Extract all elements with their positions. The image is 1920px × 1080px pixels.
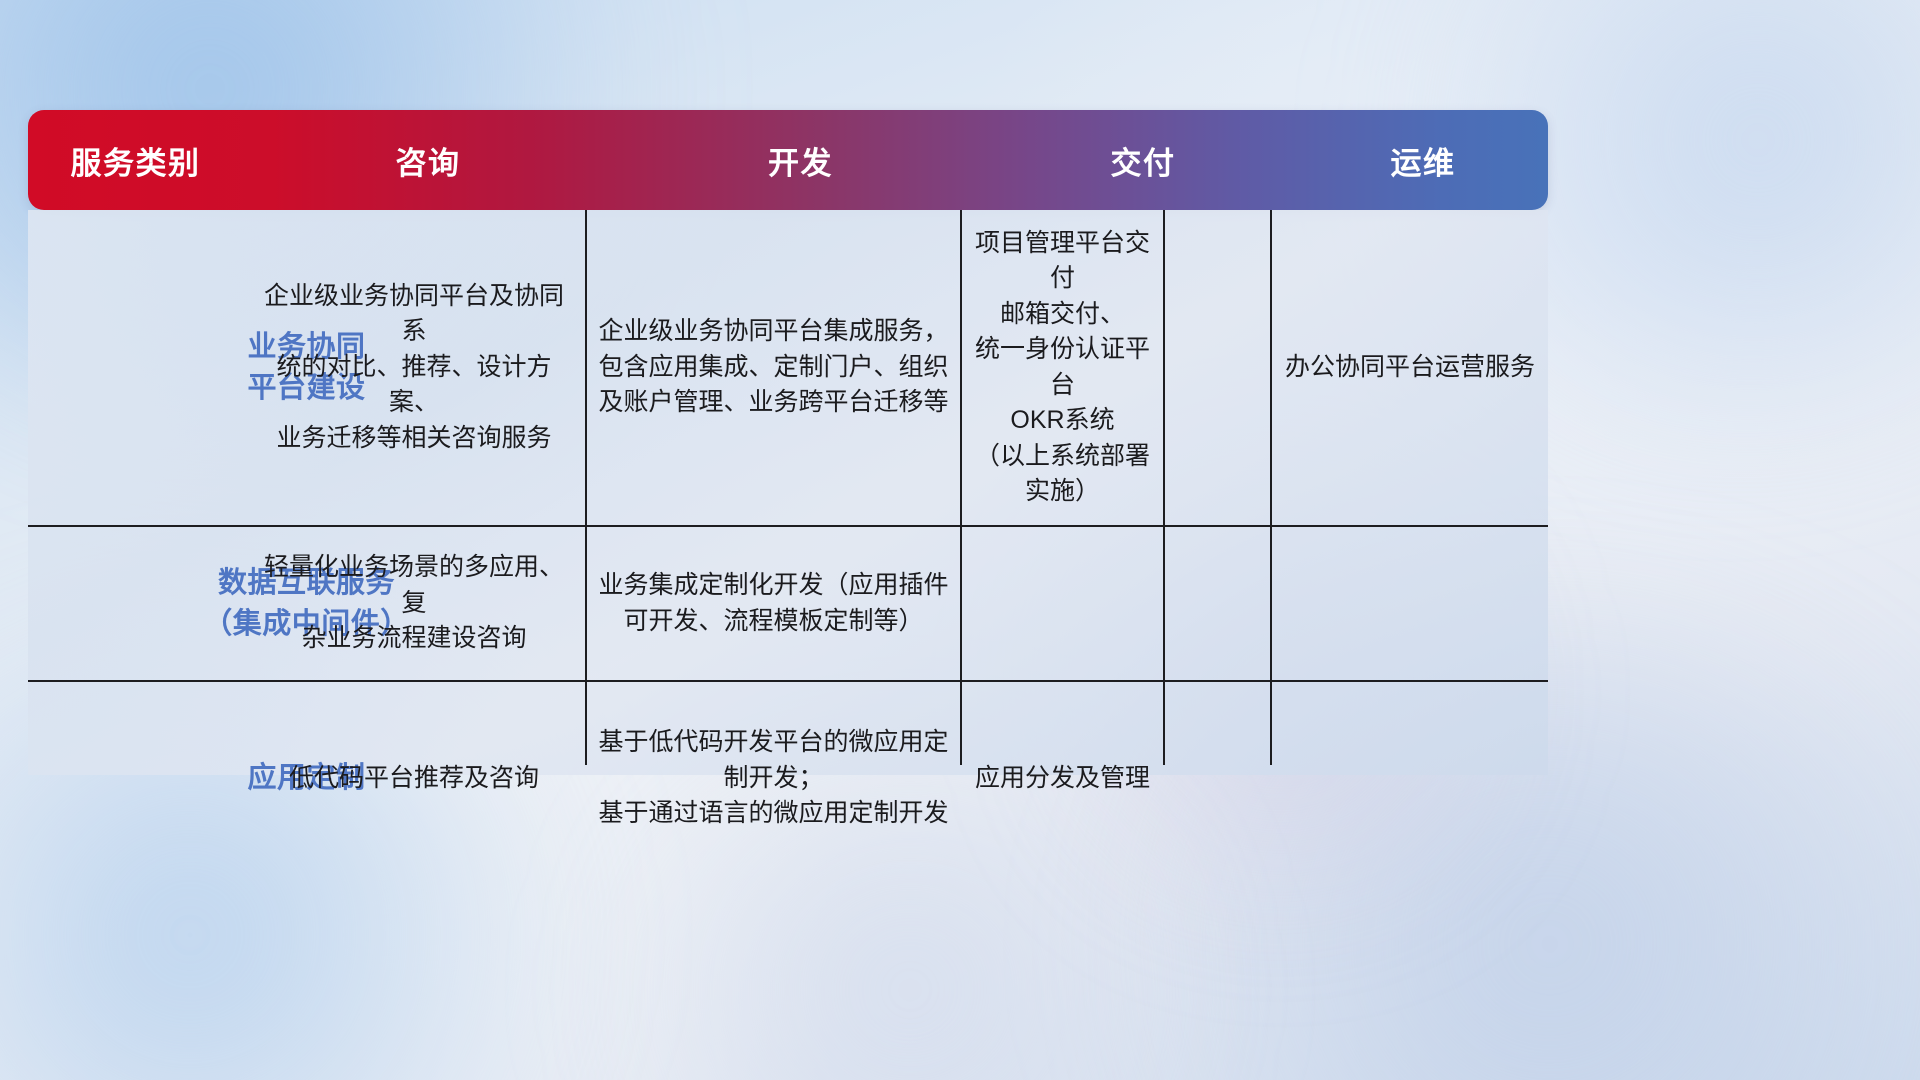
cell-delivery-row3-wrap: 应用分发及管理 bbox=[962, 682, 1163, 875]
cell-delivery-row2-wrap bbox=[962, 527, 1163, 680]
cell-consulting-row1: 企业级业务协同平台及协同系 统的对比、推荐、设计方案、 业务迁移等相关咨询服务 bbox=[253, 279, 575, 457]
cell-development-row1: 企业级业务协同平台集成服务， 包含应用集成、定制门户、组织 及账户管理、业务跨平… bbox=[598, 314, 948, 421]
cell-operations-row1: 办公协同平台运营服务 bbox=[1285, 350, 1535, 386]
column-header-delivery: 交付 bbox=[988, 138, 1298, 183]
cell-consulting-row2-wrap: 轻量化业务场景的多应用、复 杂业务流程建设咨询 bbox=[243, 527, 585, 680]
column-header-consulting: 咨询 bbox=[243, 138, 613, 183]
cell-operations-row2-wrap bbox=[1272, 527, 1548, 680]
cell-consulting-row3: 低代码平台推荐及咨询 bbox=[289, 761, 539, 797]
cell-consulting-row2: 轻量化业务场景的多应用、复 杂业务流程建设咨询 bbox=[253, 550, 575, 657]
cell-development-row3-wrap: 基于低代码开发平台的微应用定 制开发； 基于通过语言的微应用定制开发 bbox=[587, 682, 960, 875]
column-header-operations: 运维 bbox=[1298, 138, 1548, 183]
cell-operations-row1-wrap: 办公协同平台运营服务 bbox=[1272, 210, 1548, 525]
cell-development-row3: 基于低代码开发平台的微应用定 制开发； 基于通过语言的微应用定制开发 bbox=[598, 725, 948, 832]
cell-development-row1-wrap: 企业级业务协同平台集成服务， 包含应用集成、定制门户、组织 及账户管理、业务跨平… bbox=[587, 210, 960, 525]
cell-development-row2-wrap: 业务集成定制化开发（应用插件 可开发、流程模板定制等） bbox=[587, 527, 960, 680]
column-header-development: 开发 bbox=[613, 138, 988, 183]
cell-consulting-row3-wrap: 低代码平台推荐及咨询 bbox=[243, 682, 585, 875]
slide-canvas: 服务类别 咨询 开发 交付 运维 业务协同 平台建设 企业级业务协同平台及协同系… bbox=[0, 0, 1920, 1080]
cell-consulting-row1-wrap: 企业级业务协同平台及协同系 统的对比、推荐、设计方案、 业务迁移等相关咨询服务 bbox=[243, 210, 585, 525]
cell-delivery-row3: 应用分发及管理 bbox=[975, 761, 1150, 797]
table-body: 业务协同 平台建设 企业级业务协同平台及协同系 统的对比、推荐、设计方案、 业务… bbox=[28, 210, 1548, 775]
cell-delivery-row1-wrap: 项目管理平台交付 邮箱交付、 统一身份认证平台 OKR系统 （以上系统部署实施） bbox=[962, 210, 1163, 525]
cell-delivery-row1: 项目管理平台交付 邮箱交付、 统一身份认证平台 OKR系统 （以上系统部署实施） bbox=[972, 226, 1153, 510]
cell-operations-row3-wrap bbox=[1272, 682, 1548, 875]
service-matrix-table: 服务类别 咨询 开发 交付 运维 业务协同 平台建设 企业级业务协同平台及协同系… bbox=[28, 110, 1548, 775]
column-header-category: 服务类别 bbox=[28, 138, 243, 183]
cell-development-row2: 业务集成定制化开发（应用插件 可开发、流程模板定制等） bbox=[598, 568, 948, 639]
table-header-row: 服务类别 咨询 开发 交付 运维 bbox=[28, 110, 1548, 210]
